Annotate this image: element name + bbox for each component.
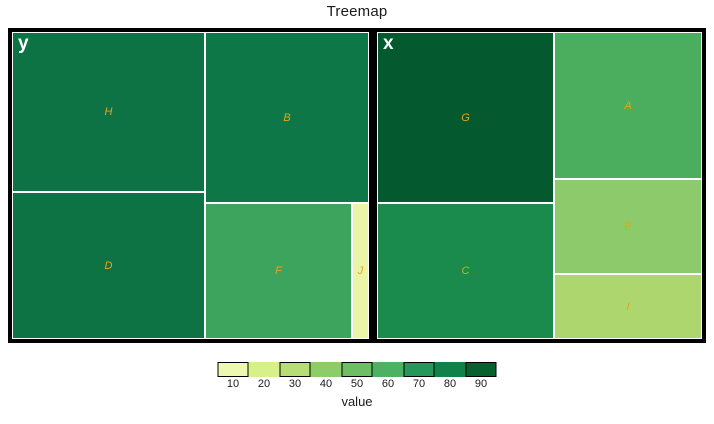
legend-swatch-50	[342, 362, 373, 377]
treemap-tile-label-I: I	[555, 301, 701, 313]
chart-canvas: Treemap y H B D F J	[0, 0, 714, 424]
legend-tick-70: 70	[404, 378, 435, 390]
legend-swatch-80	[435, 362, 466, 377]
legend-swatch-70	[404, 362, 435, 377]
page-title: Treemap	[0, 3, 714, 20]
legend-tick-10: 10	[218, 378, 249, 390]
legend-swatch-40	[311, 362, 342, 377]
legend-tick-50: 50	[342, 378, 373, 390]
legend-swatch-60	[373, 362, 404, 377]
legend-tick-90: 90	[466, 378, 497, 390]
legend-title: value	[0, 394, 714, 409]
treemap-tile-C[interactable]: C	[377, 203, 554, 339]
treemap-tile-I[interactable]: I	[554, 274, 702, 339]
legend-tick-80: 80	[435, 378, 466, 390]
treemap-plot-area: y H B D F J x	[8, 28, 706, 343]
legend-swatch-30	[280, 362, 311, 377]
legend-swatch-20	[249, 362, 280, 377]
legend-swatch-90	[466, 362, 497, 377]
legend-tick-40: 40	[311, 378, 342, 390]
treemap-tile-G[interactable]: G	[377, 32, 554, 203]
legend-colorbar	[218, 362, 497, 377]
treemap-tile-label-D: D	[13, 260, 204, 272]
legend-tick-30: 30	[280, 378, 311, 390]
treemap-tile-J[interactable]: J	[352, 203, 369, 339]
treemap-tile-E[interactable]: E	[554, 179, 702, 274]
treemap-tile-label-F: F	[206, 265, 351, 277]
treemap-facet-y: y H B D F J	[12, 32, 369, 339]
treemap-tile-label-G: G	[378, 112, 553, 124]
treemap-tile-label-B: B	[206, 112, 368, 124]
treemap-tile-label-H: H	[13, 106, 204, 118]
legend: 102030405060708090 value	[0, 352, 714, 422]
treemap-tile-A[interactable]: A	[554, 32, 702, 179]
legend-tick-labels: 102030405060708090	[218, 378, 497, 390]
legend-swatch-10	[218, 362, 249, 377]
treemap-facet-x: x G C A E I	[377, 32, 702, 339]
treemap-tile-B[interactable]: B	[205, 32, 369, 203]
treemap-tile-H[interactable]: H	[12, 32, 205, 192]
treemap-tile-F[interactable]: F	[205, 203, 352, 339]
treemap-tile-D[interactable]: D	[12, 192, 205, 339]
treemap-tile-label-C: C	[378, 265, 553, 277]
legend-tick-60: 60	[373, 378, 404, 390]
legend-tick-20: 20	[249, 378, 280, 390]
treemap-tile-label-E: E	[555, 221, 701, 233]
treemap-tile-label-A: A	[555, 100, 701, 112]
treemap-tile-label-J: J	[353, 265, 368, 277]
